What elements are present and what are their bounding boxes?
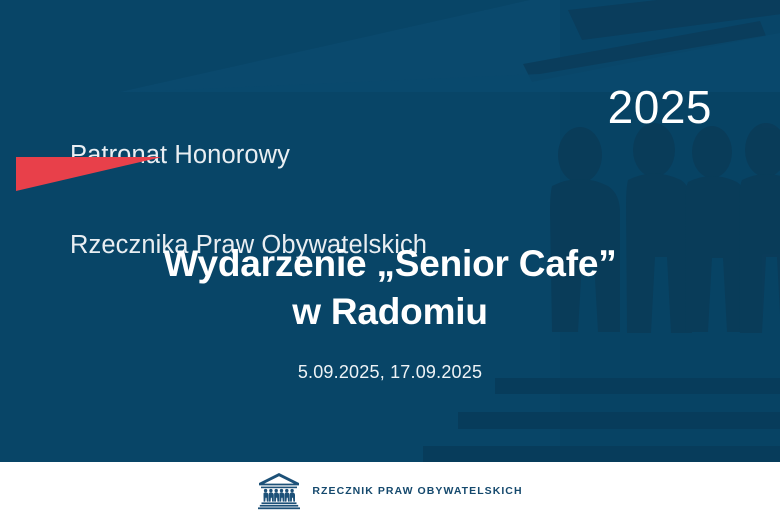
event-dates: 5.09.2025, 17.09.2025 <box>0 360 780 384</box>
title-line-1: Wydarzenie „Senior Cafe” <box>0 240 780 288</box>
classical-building-with-people-columns-icon <box>257 472 301 510</box>
footer-bar: RZECZNIK PRAW OBYWATELSKICH <box>0 462 780 520</box>
page-title: Wydarzenie „Senior Cafe” w Radomiu <box>0 240 780 336</box>
poster-canvas: Patronat Honorowy Rzecznika Praw Obywate… <box>0 0 780 520</box>
title-line-2: w Radomiu <box>0 288 780 336</box>
year-label: 2025 <box>608 82 712 132</box>
red-wedge-accent <box>16 157 162 192</box>
red-triangle-shape <box>16 157 162 191</box>
step-band-3 <box>423 446 780 462</box>
step-band-2 <box>458 412 780 429</box>
footer-logo-text: RZECZNIK PRAW OBYWATELSKICH <box>312 485 522 497</box>
